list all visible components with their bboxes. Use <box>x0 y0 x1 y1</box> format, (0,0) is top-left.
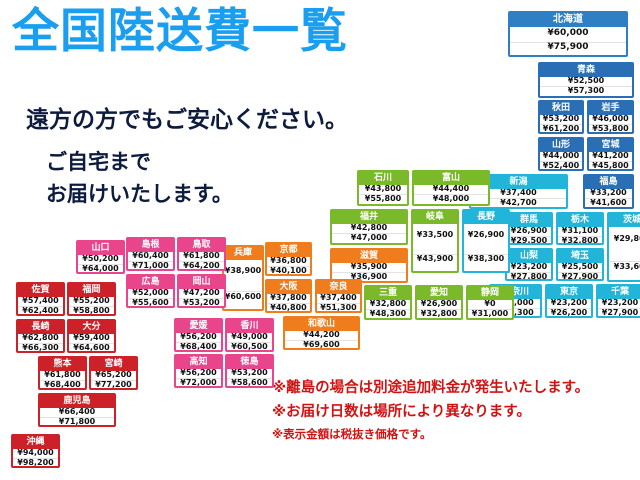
prefecture-name: 佐賀 <box>18 284 63 297</box>
prefecture-name: 福井 <box>332 211 406 224</box>
price-primary: ¥26,900 <box>507 227 551 236</box>
price-secondary: ¥71,800 <box>40 417 114 427</box>
price-pair: ¥0¥31,000 <box>468 300 512 320</box>
prefecture-card[interactable]: 秋田¥53,200¥61,200 <box>538 100 584 134</box>
prefecture-card[interactable]: 山形¥44,000¥52,400 <box>538 137 584 171</box>
prefecture-card[interactable]: 長野¥26,900¥38,300 <box>462 209 510 273</box>
price-pair: ¥23,200¥27,900 <box>598 299 640 319</box>
prefecture-name: 山形 <box>540 139 582 152</box>
prefecture-name: 埼玉 <box>558 250 602 263</box>
price-primary: ¥56,200 <box>176 333 221 342</box>
subtitle-line-2: ご自宅まで <box>46 146 151 176</box>
prefecture-name: 山梨 <box>507 250 551 263</box>
prefecture-card[interactable]: 福井¥42,800¥47,000 <box>330 209 408 245</box>
price-secondary: ¥64,200 <box>179 261 224 271</box>
prefecture-name: 鹿児島 <box>40 395 114 408</box>
price-secondary: ¥43,900 <box>413 254 457 264</box>
price-secondary: ¥61,200 <box>540 124 582 134</box>
prefecture-name: 岐阜 <box>413 211 457 224</box>
price-pair: ¥33,200¥41,600 <box>585 189 632 209</box>
price-primary: ¥55,200 <box>69 297 114 306</box>
price-primary: ¥65,200 <box>91 371 136 380</box>
price-primary: ¥60,400 <box>128 252 173 261</box>
price-pair: ¥61,800¥68,400 <box>40 371 85 391</box>
price-primary: ¥26,900 <box>417 300 461 309</box>
price-pair: ¥44,400¥48,000 <box>414 185 488 205</box>
prefecture-card[interactable]: 千葉¥23,200¥27,900 <box>596 284 640 318</box>
prefecture-name: 静岡 <box>468 287 512 300</box>
price-secondary: ¥71,000 <box>128 261 173 271</box>
price-pair: ¥37,800¥40,800 <box>267 294 310 314</box>
price-primary: ¥37,400 <box>317 294 360 303</box>
price-secondary: ¥55,600 <box>128 298 173 308</box>
price-secondary: ¥40,100 <box>267 266 310 276</box>
price-primary: ¥32,800 <box>366 300 410 309</box>
price-primary: ¥56,200 <box>176 369 221 378</box>
price-secondary: ¥31,000 <box>468 309 512 319</box>
price-pair: ¥62,800¥66,300 <box>18 334 63 354</box>
prefecture-card[interactable]: 岩手¥46,000¥53,800 <box>587 100 634 134</box>
price-pair: ¥53,200¥61,200 <box>540 115 582 135</box>
price-primary: ¥37,800 <box>267 294 310 303</box>
price-secondary: ¥58,800 <box>69 306 114 316</box>
price-pair: ¥56,200¥68,400 <box>176 333 221 353</box>
price-secondary: ¥38,300 <box>464 254 508 264</box>
prefecture-name: 奈良 <box>317 281 360 294</box>
price-primary: ¥44,200 <box>285 331 358 340</box>
price-secondary: ¥58,600 <box>227 378 272 388</box>
prefecture-name: 栃木 <box>558 214 602 227</box>
price-primary: ¥26,900 <box>464 230 508 239</box>
price-primary: ¥33,200 <box>585 189 632 198</box>
price-primary: ¥36,800 <box>267 257 310 266</box>
price-primary: ¥53,200 <box>540 115 582 124</box>
prefecture-name: 熊本 <box>40 358 85 371</box>
price-primary: ¥44,400 <box>414 185 488 194</box>
price-primary: ¥23,200 <box>598 299 640 308</box>
prefecture-name: 和歌山 <box>285 318 358 331</box>
prefecture-card[interactable]: 鹿児島¥66,400¥71,800 <box>38 393 116 427</box>
prefecture-name: 石川 <box>359 172 407 185</box>
price-secondary: ¥52,400 <box>540 161 582 171</box>
prefecture-name: 島根 <box>128 239 173 252</box>
price-pair: ¥61,800¥64,200 <box>179 252 224 272</box>
price-primary: ¥33,500 <box>413 230 457 239</box>
price-secondary: ¥69,600 <box>285 340 358 350</box>
price-pair: ¥33,500¥43,900 <box>413 224 457 272</box>
price-primary: ¥52,500 <box>540 77 632 86</box>
price-primary: ¥23,200 <box>507 263 551 272</box>
price-pair: ¥56,200¥72,000 <box>176 369 221 389</box>
prefecture-name: 東京 <box>547 286 591 299</box>
price-primary: ¥57,400 <box>18 297 63 306</box>
prefecture-card[interactable]: 富山¥44,400¥48,000 <box>412 170 490 206</box>
price-secondary: ¥66,300 <box>18 343 63 353</box>
price-pair: ¥29,800¥33,600 <box>609 227 640 281</box>
price-primary: ¥62,800 <box>18 334 63 343</box>
price-primary: ¥42,800 <box>332 224 406 233</box>
price-secondary: ¥64,000 <box>78 264 123 274</box>
price-primary: ¥25,500 <box>558 263 602 272</box>
price-secondary: ¥57,300 <box>540 86 632 96</box>
price-pair: ¥41,200¥45,800 <box>589 152 632 172</box>
prefecture-card[interactable]: 奈良¥37,400¥51,300 <box>315 279 362 313</box>
price-secondary: ¥72,000 <box>176 378 221 388</box>
price-pair: ¥49,000¥60,500 <box>227 333 272 353</box>
prefecture-name: 秋田 <box>540 102 582 115</box>
price-pair: ¥52,000¥55,600 <box>128 289 173 309</box>
price-secondary: ¥55,800 <box>359 194 407 204</box>
poster-canvas: 全国陸送費一覧 遠方の方でもご安心ください。 ご自宅まで お届けいたします。 ※… <box>0 0 640 480</box>
prefecture-card[interactable]: 山梨¥23,200¥27,800 <box>505 248 553 281</box>
price-primary: ¥38,900 <box>224 267 262 276</box>
price-pair: ¥60,400¥71,000 <box>128 252 173 272</box>
price-pair: ¥32,800¥48,300 <box>366 300 410 320</box>
price-primary: ¥50,200 <box>78 255 123 264</box>
price-secondary: ¥47,000 <box>332 233 406 243</box>
prefecture-card[interactable]: 静岡¥0¥31,000 <box>466 285 514 320</box>
price-primary: ¥61,800 <box>40 371 85 380</box>
price-primary: ¥41,200 <box>589 152 632 161</box>
price-primary: ¥35,900 <box>332 263 406 272</box>
prefecture-card[interactable]: 大阪¥37,800¥40,800 <box>265 279 312 313</box>
price-secondary: ¥48,300 <box>366 309 410 319</box>
price-primary: ¥0 <box>468 300 512 309</box>
price-secondary: ¥41,600 <box>585 198 632 208</box>
prefecture-card[interactable]: 茨城¥29,800¥33,600 <box>607 212 640 282</box>
prefecture-card[interactable]: 沖縄¥94,000¥98,200 <box>11 434 60 468</box>
price-pair: ¥25,500¥27,900 <box>558 263 602 282</box>
price-pair: ¥43,800¥55,800 <box>359 185 407 205</box>
prefecture-name: 鳥取 <box>179 239 224 252</box>
price-primary: ¥43,800 <box>359 185 407 194</box>
note-tax-excluded: ※表示金額は税抜き価格です。 <box>272 426 432 442</box>
prefecture-name: 滋賀 <box>332 250 406 263</box>
prefecture-card[interactable]: 東京¥23,200¥26,200 <box>545 284 593 318</box>
price-primary: ¥52,000 <box>128 289 173 298</box>
prefecture-card[interactable]: 群馬¥26,900¥29,500 <box>505 212 553 245</box>
price-secondary: ¥68,400 <box>40 380 85 390</box>
prefecture-card[interactable]: 滋賀¥35,900¥36,900 <box>330 248 408 283</box>
prefecture-name: 長野 <box>464 211 508 224</box>
price-secondary: ¥33,600 <box>609 261 640 271</box>
price-secondary: ¥53,200 <box>179 298 224 308</box>
price-secondary: ¥32,800 <box>417 309 461 319</box>
price-pair: ¥44,200¥69,600 <box>285 331 358 351</box>
price-primary: ¥61,800 <box>179 252 224 261</box>
price-secondary: ¥64,600 <box>69 343 114 353</box>
price-secondary: ¥27,800 <box>507 272 551 281</box>
price-pair: ¥44,000¥52,400 <box>540 152 582 172</box>
prefecture-name: 青森 <box>540 64 632 77</box>
prefecture-name: 京都 <box>267 244 310 257</box>
prefecture-name: 兵庫 <box>224 247 262 260</box>
price-secondary: ¥68,400 <box>176 342 221 352</box>
prefecture-card[interactable]: 愛媛¥56,200¥68,400 <box>174 318 223 352</box>
prefecture-card[interactable]: 宮城¥41,200¥45,800 <box>587 137 634 171</box>
prefecture-card[interactable]: 北海道¥60,000¥75,900 <box>508 11 628 57</box>
prefecture-card[interactable]: 埼玉¥25,500¥27,900 <box>556 248 604 281</box>
price-primary: ¥49,000 <box>227 333 272 342</box>
price-secondary: ¥60,500 <box>227 342 272 352</box>
price-secondary: ¥32,800 <box>558 236 602 245</box>
prefecture-name: 岡山 <box>179 276 224 289</box>
prefecture-card[interactable]: 福島¥33,200¥41,600 <box>583 174 634 209</box>
prefecture-name: 徳島 <box>227 356 272 369</box>
prefecture-card[interactable]: 愛知¥26,900¥32,800 <box>415 285 463 320</box>
prefecture-name: 千葉 <box>598 286 640 299</box>
price-pair: ¥55,200¥58,800 <box>69 297 114 317</box>
prefecture-name: 広島 <box>128 276 173 289</box>
price-pair: ¥57,400¥62,400 <box>18 297 63 317</box>
prefecture-name: 大分 <box>69 321 114 334</box>
price-secondary: ¥40,800 <box>267 303 310 313</box>
price-primary: ¥94,000 <box>13 449 58 458</box>
price-pair: ¥59,400¥64,600 <box>69 334 114 354</box>
note-remote-islands: ※離島の場合は別途追加料金が発生いたします。 <box>272 376 589 397</box>
price-secondary: ¥29,500 <box>507 236 551 245</box>
prefecture-card[interactable]: 広島¥52,000¥55,600 <box>126 274 175 308</box>
price-primary: ¥66,400 <box>40 408 114 417</box>
prefecture-name: 長崎 <box>18 321 63 334</box>
price-pair: ¥36,800¥40,100 <box>267 257 310 277</box>
price-pair: ¥42,800¥47,000 <box>332 224 406 244</box>
prefecture-name: 愛媛 <box>176 320 221 333</box>
price-pair: ¥47,200¥53,200 <box>179 289 224 309</box>
prefecture-name: 愛知 <box>417 287 461 300</box>
subtitle-line-3: お届けいたします。 <box>46 178 233 208</box>
price-secondary: ¥60,600 <box>224 291 262 301</box>
price-secondary: ¥53,800 <box>589 124 632 134</box>
prefecture-name: 宮崎 <box>91 358 136 371</box>
price-pair: ¥52,500¥57,300 <box>540 77 632 97</box>
prefecture-card[interactable]: 香川¥49,000¥60,500 <box>225 318 274 352</box>
price-secondary: ¥98,200 <box>13 458 58 468</box>
price-pair: ¥23,200¥26,200 <box>547 299 591 319</box>
prefecture-name: 三重 <box>366 287 410 300</box>
prefecture-card[interactable]: 兵庫¥38,900¥60,600 <box>222 245 264 311</box>
prefecture-card[interactable]: 佐賀¥57,400¥62,400 <box>16 282 65 316</box>
price-pair: ¥65,200¥77,200 <box>91 371 136 391</box>
prefecture-name: 高知 <box>176 356 221 369</box>
prefecture-name: 大阪 <box>267 281 310 294</box>
price-secondary: ¥51,300 <box>317 303 360 313</box>
price-pair: ¥66,400¥71,800 <box>40 408 114 428</box>
price-pair: ¥26,900¥32,800 <box>417 300 461 320</box>
price-primary: ¥59,400 <box>69 334 114 343</box>
prefecture-card[interactable]: 京都¥36,800¥40,100 <box>265 242 312 276</box>
prefecture-card[interactable]: 山口¥50,200¥64,000 <box>76 240 125 274</box>
price-secondary: ¥27,900 <box>558 272 602 281</box>
price-secondary: ¥26,200 <box>547 308 591 318</box>
price-primary: ¥29,800 <box>609 235 640 244</box>
price-secondary: ¥77,200 <box>91 380 136 390</box>
price-pair: ¥53,200¥58,600 <box>227 369 272 389</box>
price-pair: ¥26,900¥38,300 <box>464 224 508 272</box>
prefecture-name: 茨城 <box>609 214 640 227</box>
price-pair: ¥31,100¥32,800 <box>558 227 602 246</box>
prefecture-name: 沖縄 <box>13 436 58 449</box>
price-pair: ¥23,200¥27,800 <box>507 263 551 282</box>
price-primary: ¥53,200 <box>227 369 272 378</box>
prefecture-card[interactable]: 長崎¥62,800¥66,300 <box>16 319 65 353</box>
prefecture-card[interactable]: 鳥取¥61,800¥64,200 <box>177 237 226 271</box>
price-pair: ¥38,900¥60,600 <box>224 260 262 310</box>
prefecture-name: 香川 <box>227 320 272 333</box>
prefecture-card[interactable]: 徳島¥53,200¥58,600 <box>225 354 274 388</box>
price-pair: ¥37,400¥51,300 <box>317 294 360 314</box>
price-pair: ¥60,000¥75,900 <box>510 27 626 56</box>
prefecture-name: 群馬 <box>507 214 551 227</box>
note-delivery-days: ※お届け日数は場所により異なります。 <box>272 400 531 421</box>
prefecture-card[interactable]: 栃木¥31,100¥32,800 <box>556 212 604 245</box>
price-pair: ¥94,000¥98,200 <box>13 449 58 469</box>
price-pair: ¥26,900¥29,500 <box>507 227 551 246</box>
page-title: 全国陸送費一覧 <box>12 8 348 55</box>
prefecture-card[interactable]: 和歌山¥44,200¥69,600 <box>283 316 360 350</box>
price-secondary: ¥45,800 <box>589 161 632 171</box>
price-primary: ¥31,100 <box>558 227 602 236</box>
price-primary: ¥60,000 <box>510 28 626 38</box>
prefecture-name: 山口 <box>78 242 123 255</box>
price-secondary: ¥27,900 <box>598 308 640 318</box>
prefecture-name: 福島 <box>585 176 632 189</box>
price-pair: ¥50,200¥64,000 <box>78 255 123 275</box>
prefecture-card[interactable]: 岡山¥47,200¥53,200 <box>177 274 226 308</box>
prefecture-card[interactable]: 三重¥32,800¥48,300 <box>364 285 412 320</box>
prefecture-card[interactable]: 島根¥60,400¥71,000 <box>126 237 175 271</box>
prefecture-card[interactable]: 宮崎¥65,200¥77,200 <box>89 356 138 390</box>
price-primary: ¥23,200 <box>547 299 591 308</box>
prefecture-name: 福岡 <box>69 284 114 297</box>
subtitle-line-1: 遠方の方でもご安心ください。 <box>26 100 348 134</box>
prefecture-card[interactable]: 大分¥59,400¥64,600 <box>67 319 116 353</box>
prefecture-card[interactable]: 福岡¥55,200¥58,800 <box>67 282 116 316</box>
prefecture-card[interactable]: 青森¥52,500¥57,300 <box>538 62 634 98</box>
prefecture-card[interactable]: 高知¥56,200¥72,000 <box>174 354 223 388</box>
price-secondary: ¥62,400 <box>18 306 63 316</box>
price-secondary: ¥75,900 <box>510 42 626 53</box>
prefecture-name: 北海道 <box>510 13 626 27</box>
price-primary: ¥46,000 <box>589 115 632 124</box>
price-primary: ¥47,200 <box>179 289 224 298</box>
prefecture-card[interactable]: 岐阜¥33,500¥43,900 <box>411 209 459 273</box>
prefecture-name: 岩手 <box>589 102 632 115</box>
price-primary: ¥44,000 <box>540 152 582 161</box>
prefecture-name: 富山 <box>414 172 488 185</box>
prefecture-card[interactable]: 石川¥43,800¥55,800 <box>357 170 409 206</box>
price-secondary: ¥48,000 <box>414 194 488 204</box>
prefecture-name: 宮城 <box>589 139 632 152</box>
prefecture-card[interactable]: 熊本¥61,800¥68,400 <box>38 356 87 390</box>
price-pair: ¥46,000¥53,800 <box>589 115 632 135</box>
